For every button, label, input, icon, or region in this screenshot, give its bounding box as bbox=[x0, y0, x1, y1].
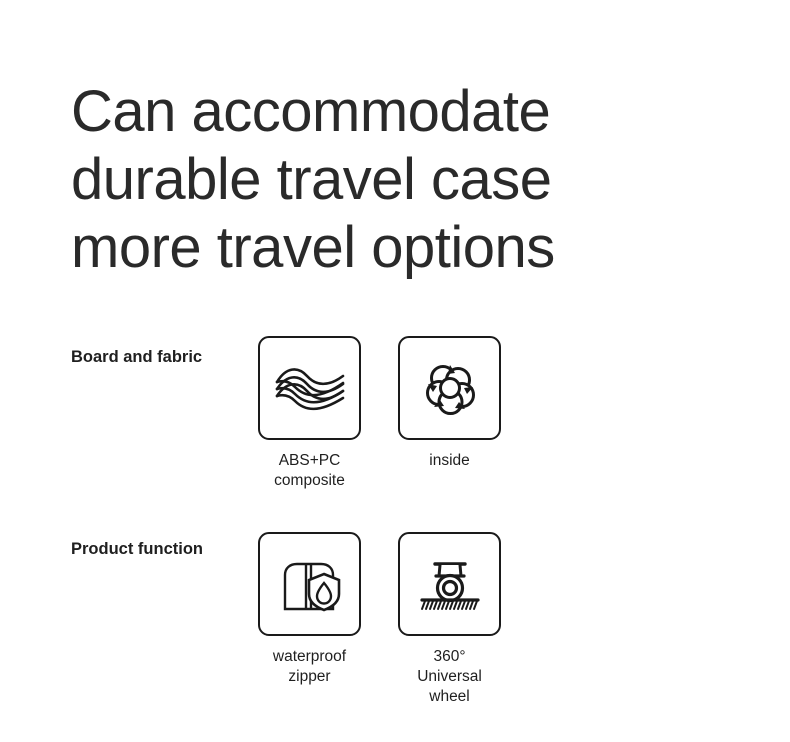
icon-box-universal-wheel bbox=[398, 532, 501, 636]
icon-box-inside-cotton bbox=[398, 336, 501, 440]
icon-box-waterproof-zipper bbox=[258, 532, 361, 636]
feature-row-board-and-fabric: Board and fabric bbox=[0, 336, 790, 532]
caption-inside-cotton: inside bbox=[429, 451, 470, 471]
feature-card-abs-pc-composite[interactable]: ABS+PC composite bbox=[258, 336, 361, 491]
caption-waterproof-zipper: waterproof zipper bbox=[273, 647, 346, 687]
row-label-product-function: Product function bbox=[71, 540, 203, 559]
feature-row-product-function: Product function waterproof zi bbox=[0, 532, 790, 728]
feature-card-universal-wheel[interactable]: 360° Universal wheel bbox=[398, 532, 501, 707]
card-group-product-function: waterproof zipper bbox=[258, 532, 501, 707]
feature-rows: Board and fabric bbox=[0, 336, 790, 728]
caption-universal-wheel: 360° Universal wheel bbox=[398, 647, 501, 707]
caption-abs-pc-composite: ABS+PC composite bbox=[274, 451, 345, 491]
icon-box-abs-pc-composite bbox=[258, 336, 361, 440]
page-title: Can accommodate durable travel case more… bbox=[71, 78, 711, 282]
wavy-layers-icon bbox=[274, 360, 346, 416]
universal-caster-wheel-icon bbox=[417, 555, 483, 613]
cotton-flower-icon bbox=[419, 357, 481, 419]
waterproof-zipper-shield-icon bbox=[277, 553, 343, 615]
row-label-board-and-fabric: Board and fabric bbox=[71, 348, 202, 367]
card-group-board-and-fabric: ABS+PC composite bbox=[258, 336, 501, 491]
feature-card-inside-cotton[interactable]: inside bbox=[398, 336, 501, 491]
feature-card-waterproof-zipper[interactable]: waterproof zipper bbox=[258, 532, 361, 707]
